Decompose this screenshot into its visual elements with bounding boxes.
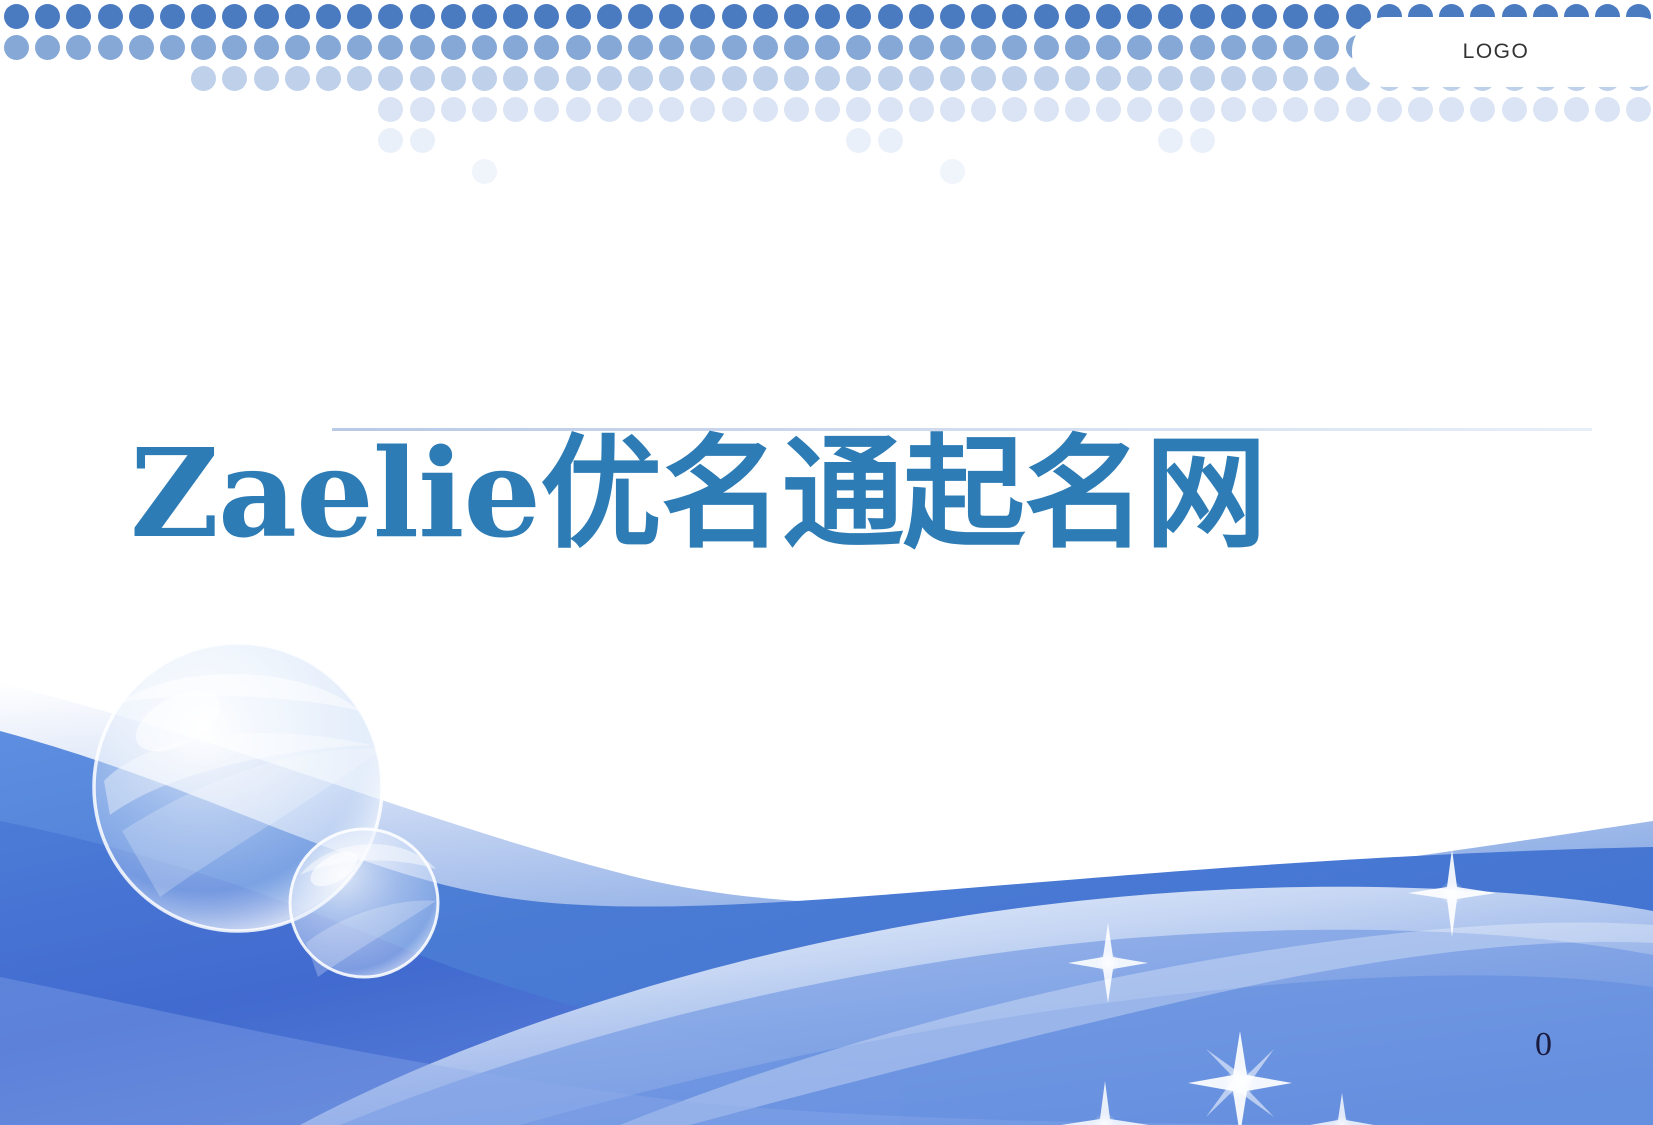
pattern-dot [1377, 97, 1402, 122]
pattern-dot [1314, 66, 1339, 91]
pattern-dot [1346, 97, 1371, 122]
pattern-dot [1283, 97, 1308, 122]
pattern-dot [1252, 35, 1277, 60]
pattern-dot [410, 66, 435, 91]
pattern-dot [784, 35, 809, 60]
pattern-dot [503, 97, 528, 122]
pattern-dot [410, 4, 435, 29]
pattern-dot [1221, 35, 1246, 60]
pattern-dot [1065, 35, 1090, 60]
pattern-dot [4, 35, 29, 60]
pattern-dot [378, 66, 403, 91]
pattern-dot [1252, 66, 1277, 91]
pattern-dot [4, 4, 29, 29]
pattern-dot [1221, 97, 1246, 122]
pattern-dot [628, 4, 653, 29]
pattern-dot [597, 97, 622, 122]
pattern-dot [878, 66, 903, 91]
pattern-dot [472, 159, 497, 184]
pattern-dot [909, 4, 934, 29]
pattern-dot [628, 35, 653, 60]
pattern-dot [1283, 4, 1308, 29]
pattern-dot [1190, 4, 1215, 29]
pattern-dot [722, 35, 747, 60]
pattern-dot [690, 66, 715, 91]
pattern-dot [846, 4, 871, 29]
pattern-dot [1158, 4, 1183, 29]
pattern-dot [410, 128, 435, 153]
pattern-dot [815, 4, 840, 29]
pattern-dot [784, 66, 809, 91]
pattern-dot [846, 128, 871, 153]
pattern-dot [659, 66, 684, 91]
pattern-dot [191, 35, 216, 60]
pattern-dot [254, 35, 279, 60]
pattern-dot [784, 4, 809, 29]
pattern-dot [566, 97, 591, 122]
pattern-dot [1127, 66, 1152, 91]
pattern-dot [940, 66, 965, 91]
pattern-dot [878, 35, 903, 60]
pattern-dot [722, 4, 747, 29]
pattern-dot [878, 128, 903, 153]
pattern-dot [690, 4, 715, 29]
pattern-dot [878, 4, 903, 29]
pattern-dot [753, 66, 778, 91]
pattern-dot [378, 4, 403, 29]
pattern-dot [347, 4, 372, 29]
pattern-dot [1034, 4, 1059, 29]
pattern-dot [1252, 4, 1277, 29]
pattern-dot [534, 4, 559, 29]
pattern-dot [534, 97, 559, 122]
pattern-dot [690, 97, 715, 122]
pattern-dot [909, 97, 934, 122]
pattern-dot [441, 66, 466, 91]
pattern-dot [628, 97, 653, 122]
pattern-dot [1408, 97, 1433, 122]
pattern-dot [753, 97, 778, 122]
pattern-dot [160, 35, 185, 60]
pattern-dot [1127, 4, 1152, 29]
pattern-dot [129, 4, 154, 29]
pattern-dot [597, 66, 622, 91]
pattern-dot [378, 97, 403, 122]
pattern-dot [472, 4, 497, 29]
pattern-dot [1158, 128, 1183, 153]
pattern-dot [1190, 97, 1215, 122]
pattern-dot [1470, 97, 1495, 122]
pattern-dot [1502, 97, 1527, 122]
pattern-dot [1002, 35, 1027, 60]
pattern-dot [940, 159, 965, 184]
pattern-dot [1595, 97, 1620, 122]
pattern-dot [1626, 97, 1651, 122]
pattern-dot [753, 35, 778, 60]
pattern-dot [472, 97, 497, 122]
pattern-dot [472, 35, 497, 60]
pattern-dot [285, 66, 310, 91]
pattern-dot [1314, 35, 1339, 60]
pattern-dot [1065, 4, 1090, 29]
pattern-dot [534, 66, 559, 91]
pattern-dot [1127, 35, 1152, 60]
pattern-dot [909, 35, 934, 60]
pattern-dot [1158, 97, 1183, 122]
pattern-dot [1096, 35, 1121, 60]
pattern-dot [472, 66, 497, 91]
pattern-dot [1034, 97, 1059, 122]
blue-wave-graphic [0, 625, 1653, 1125]
pattern-dot [722, 97, 747, 122]
pattern-dot [971, 4, 996, 29]
pattern-dot [1190, 66, 1215, 91]
pattern-dot [1314, 97, 1339, 122]
pattern-dot [503, 4, 528, 29]
pattern-dot [753, 4, 778, 29]
pattern-dot [846, 97, 871, 122]
pattern-dot [1190, 35, 1215, 60]
pattern-dot [347, 35, 372, 60]
pattern-dot [1283, 35, 1308, 60]
pattern-dot [98, 4, 123, 29]
pattern-dot [815, 35, 840, 60]
pattern-dot [254, 4, 279, 29]
pattern-dot [940, 4, 965, 29]
pattern-dot [378, 35, 403, 60]
pattern-dot [659, 4, 684, 29]
pattern-dot [1221, 66, 1246, 91]
pattern-dot [1034, 35, 1059, 60]
pattern-dot [846, 66, 871, 91]
pattern-dot [503, 35, 528, 60]
pattern-dot [597, 35, 622, 60]
pattern-dot [1252, 97, 1277, 122]
pattern-dot [222, 66, 247, 91]
pattern-dot [1096, 97, 1121, 122]
pattern-dot [566, 35, 591, 60]
pattern-dot [1002, 4, 1027, 29]
pattern-dot [222, 35, 247, 60]
pattern-dot [1158, 66, 1183, 91]
logo-label: LOGO [1463, 40, 1530, 64]
pattern-dot [1314, 4, 1339, 29]
pattern-dot [815, 66, 840, 91]
pattern-dot [1096, 66, 1121, 91]
pattern-dot [971, 66, 996, 91]
pattern-dot [285, 35, 310, 60]
pattern-dot [347, 66, 372, 91]
pattern-dot [1002, 97, 1027, 122]
pattern-dot [1096, 4, 1121, 29]
pattern-dot [1127, 97, 1152, 122]
pattern-dot [222, 4, 247, 29]
pattern-dot [566, 4, 591, 29]
pattern-dot [35, 4, 60, 29]
pattern-dot [441, 35, 466, 60]
pattern-dot [378, 128, 403, 153]
pattern-dot [690, 35, 715, 60]
pattern-dot [1065, 66, 1090, 91]
pattern-dot [566, 66, 591, 91]
bubble-small [290, 829, 438, 977]
pattern-dot [940, 35, 965, 60]
pattern-dot [441, 4, 466, 29]
pattern-dot [316, 66, 341, 91]
pattern-dot [1533, 97, 1558, 122]
pattern-dot [784, 97, 809, 122]
pattern-dot [1221, 4, 1246, 29]
pattern-dot [659, 97, 684, 122]
pattern-dot [410, 97, 435, 122]
pattern-dot [971, 35, 996, 60]
logo-placeholder[interactable]: LOGO [1352, 17, 1653, 87]
pattern-dot [35, 35, 60, 60]
pattern-dot [191, 66, 216, 91]
pattern-dot [316, 4, 341, 29]
pattern-dot [66, 35, 91, 60]
pattern-dot [1283, 66, 1308, 91]
pattern-dot [534, 35, 559, 60]
pattern-dot [1190, 128, 1215, 153]
pattern-dot [1034, 66, 1059, 91]
pattern-dot [722, 66, 747, 91]
pattern-dot [98, 35, 123, 60]
pattern-dot [160, 4, 185, 29]
pattern-dot [285, 4, 310, 29]
pattern-dot [316, 35, 341, 60]
pattern-dot [254, 66, 279, 91]
pattern-dot [659, 35, 684, 60]
page-number: 0 [1535, 1026, 1552, 1064]
pattern-dot [940, 97, 965, 122]
pattern-dot [66, 4, 91, 29]
pattern-dot [441, 97, 466, 122]
pattern-dot [1439, 97, 1464, 122]
pattern-dot [909, 66, 934, 91]
pattern-dot [129, 35, 154, 60]
page-title: Zaelie优名通起名网 [130, 422, 1610, 566]
pattern-dot [410, 35, 435, 60]
pattern-dot [1065, 97, 1090, 122]
pattern-dot [846, 35, 871, 60]
pattern-dot [1564, 97, 1589, 122]
pattern-dot [971, 97, 996, 122]
pattern-dot [191, 4, 216, 29]
pattern-dot [878, 97, 903, 122]
presentation-slide: LOGO Zaelie优名通起名网 [0, 0, 1653, 1125]
pattern-dot [1002, 66, 1027, 91]
pattern-dot [628, 66, 653, 91]
pattern-dot [815, 97, 840, 122]
pattern-dot [1158, 35, 1183, 60]
pattern-dot [597, 4, 622, 29]
pattern-dot [503, 66, 528, 91]
